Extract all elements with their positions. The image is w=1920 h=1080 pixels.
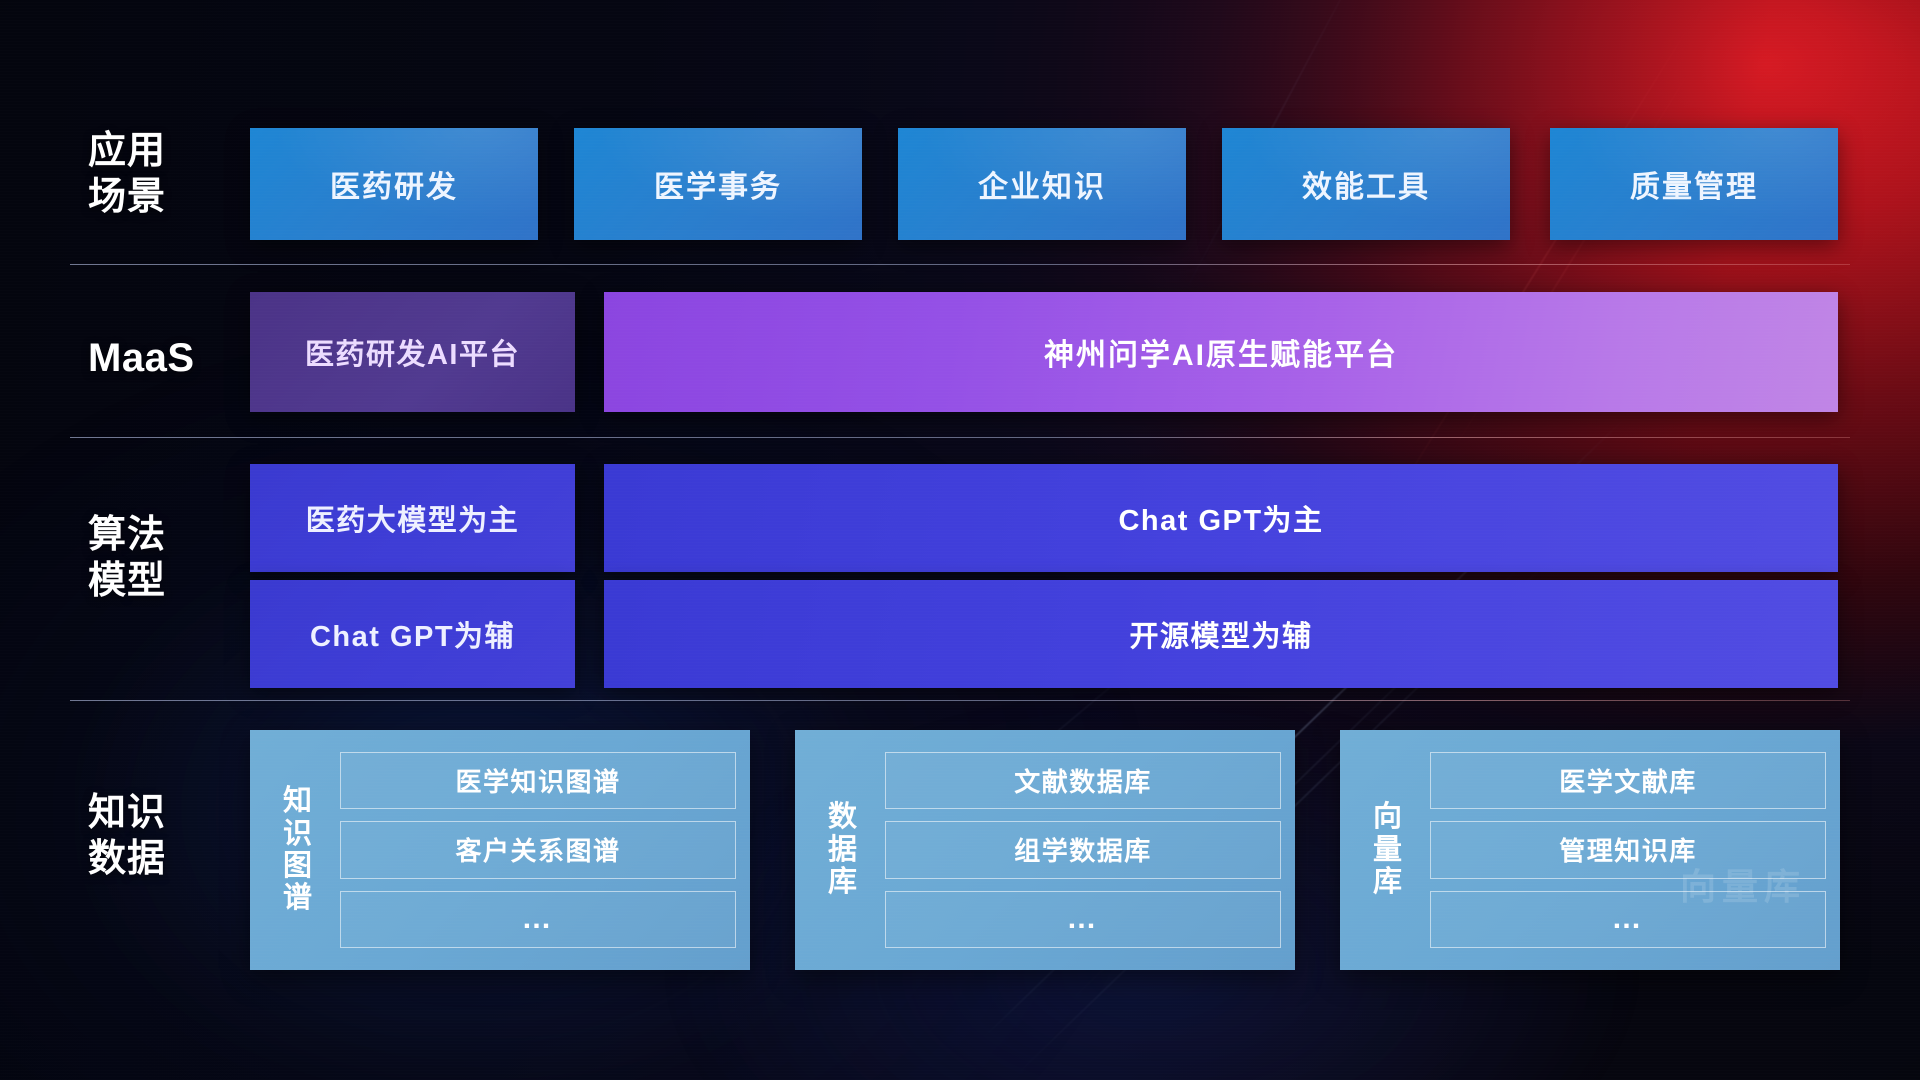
panel-title-database: 数据库 [815, 801, 871, 898]
panel-title-knowledge-graph: 知识图谱 [270, 785, 326, 915]
row-label-application-scenarios: 应用 场景 [88, 128, 238, 221]
divider-1 [70, 264, 1850, 265]
maas-box-shenzhou-wenxue-platform[interactable]: 神州问学AI原生赋能平台 [604, 292, 1838, 412]
row-label-line-1: 算法 [88, 512, 238, 558]
panel-item-list: 文献数据库 组学数据库 … [885, 742, 1281, 958]
maas-box-medicine-ai-platform[interactable]: 医药研发AI平台 [250, 292, 575, 412]
panel-item-literature-database[interactable]: 文献数据库 [885, 752, 1281, 809]
row-label-algorithm-model: 算法 模型 [88, 512, 238, 605]
panel-item-list: 医学文献库 管理知识库 … [1430, 742, 1826, 958]
panel-item-more[interactable]: … [885, 891, 1281, 948]
app-box-efficiency-tools[interactable]: 效能工具 [1222, 128, 1510, 240]
knowledge-panel-database[interactable]: 数据库 文献数据库 组学数据库 … [795, 730, 1295, 970]
row-label-knowledge-data: 知识 数据 [88, 790, 238, 883]
divider-3 [70, 700, 1850, 701]
app-box-medicine-rd[interactable]: 医药研发 [250, 128, 538, 240]
panel-item-more[interactable]: … [340, 891, 736, 948]
panel-item-list: 医学知识图谱 客户关系图谱 … [340, 742, 736, 958]
panel-item-customer-relation-graph[interactable]: 客户关系图谱 [340, 821, 736, 878]
panel-item-medical-knowledge-graph[interactable]: 医学知识图谱 [340, 752, 736, 809]
algo-box-chatgpt-primary[interactable]: Chat GPT为主 [604, 464, 1838, 572]
app-box-quality-management[interactable]: 质量管理 [1550, 128, 1838, 240]
algo-box-medicine-large-model-primary[interactable]: 医药大模型为主 [250, 464, 575, 572]
panel-title-vector-store: 向量库 [1360, 801, 1416, 898]
knowledge-panel-vector-store[interactable]: 向量库 医学文献库 管理知识库 … 向量库 [1340, 730, 1840, 970]
row-label-line-2: 数据 [88, 836, 238, 882]
row-label-line-2: 模型 [88, 558, 238, 604]
panel-item-omics-database[interactable]: 组学数据库 [885, 821, 1281, 878]
row-label-line-2: 场景 [88, 174, 238, 220]
slide-canvas: 应用 场景 医药研发 医学事务 企业知识 效能工具 质量管理 MaaS 医药研发… [0, 0, 1920, 1080]
row-label-line-1: 应用 [88, 128, 238, 174]
diagram-content: 应用 场景 医药研发 医学事务 企业知识 效能工具 质量管理 MaaS 医药研发… [0, 0, 1920, 1080]
algo-box-opensource-secondary[interactable]: 开源模型为辅 [604, 580, 1838, 688]
app-box-enterprise-knowledge[interactable]: 企业知识 [898, 128, 1186, 240]
panel-item-management-knowledge-store[interactable]: 管理知识库 [1430, 821, 1826, 878]
row-label-line-1: 知识 [88, 790, 238, 836]
panel-item-medical-literature-store[interactable]: 医学文献库 [1430, 752, 1826, 809]
panel-item-more[interactable]: … [1430, 891, 1826, 948]
app-box-medical-affairs[interactable]: 医学事务 [574, 128, 862, 240]
row-label-maas: MaaS [88, 334, 238, 383]
divider-2 [70, 437, 1850, 438]
knowledge-panel-knowledge-graph[interactable]: 知识图谱 医学知识图谱 客户关系图谱 … [250, 730, 750, 970]
algo-box-chatgpt-secondary[interactable]: Chat GPT为辅 [250, 580, 575, 688]
